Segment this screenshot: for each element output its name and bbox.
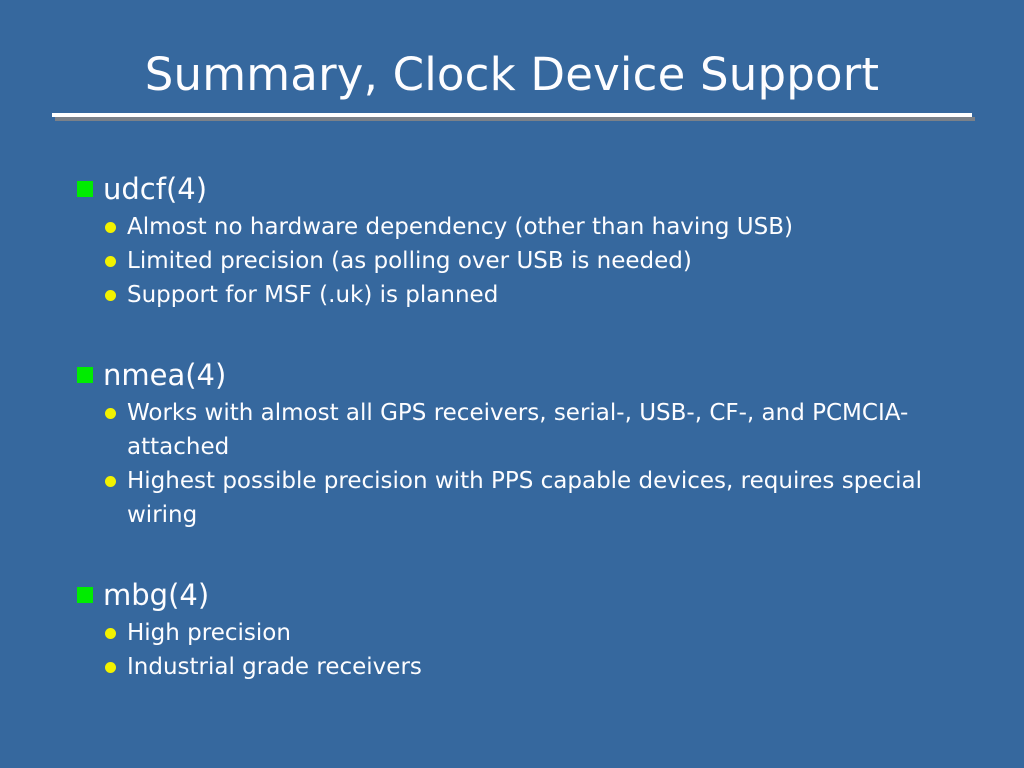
list-item: High precision — [72, 616, 972, 650]
list-item: Support for MSF (.uk) is planned — [72, 278, 972, 312]
list-item: Limited precision (as polling over USB i… — [72, 244, 972, 278]
title-divider-shadow — [55, 117, 975, 121]
square-bullet-icon — [77, 587, 93, 603]
list-item-label: High precision — [127, 616, 972, 650]
section-heading-label: mbg(4) — [103, 576, 972, 614]
list-item: Works with almost all GPS receivers, ser… — [72, 396, 972, 464]
list-item-label: Industrial grade receivers — [127, 650, 972, 684]
list-item-label: Support for MSF (.uk) is planned — [127, 278, 972, 312]
content-section: udcf(4) Almost no hardware dependency (o… — [72, 170, 972, 312]
dot-bullet-icon — [105, 662, 116, 673]
section-bullet-list: Almost no hardware dependency (other tha… — [72, 210, 972, 312]
slide-body: udcf(4) Almost no hardware dependency (o… — [72, 170, 972, 684]
dot-bullet-icon — [105, 476, 116, 487]
page-title: Summary, Clock Device Support — [0, 48, 1024, 102]
section-bullet-list: High precision Industrial grade receiver… — [72, 616, 972, 684]
list-item: Highest possible precision with PPS capa… — [72, 464, 972, 532]
list-item-label: Works with almost all GPS receivers, ser… — [127, 396, 972, 464]
list-item: Almost no hardware dependency (other tha… — [72, 210, 972, 244]
square-bullet-icon — [77, 367, 93, 383]
section-heading-row: udcf(4) — [72, 170, 972, 208]
dot-bullet-icon — [105, 290, 116, 301]
dot-bullet-icon — [105, 628, 116, 639]
slide-title-block: Summary, Clock Device Support — [0, 48, 1024, 102]
list-item-label: Highest possible precision with PPS capa… — [127, 464, 972, 532]
dot-bullet-icon — [105, 256, 116, 267]
section-heading-label: udcf(4) — [103, 170, 972, 208]
list-item-label: Almost no hardware dependency (other tha… — [127, 210, 972, 244]
section-heading-row: mbg(4) — [72, 576, 972, 614]
square-bullet-icon — [77, 181, 93, 197]
dot-bullet-icon — [105, 408, 116, 419]
content-section: nmea(4) Works with almost all GPS receiv… — [72, 356, 972, 532]
list-item: Industrial grade receivers — [72, 650, 972, 684]
section-heading-row: nmea(4) — [72, 356, 972, 394]
content-section: mbg(4) High precision Industrial grade r… — [72, 576, 972, 684]
presentation-slide: Summary, Clock Device Support udcf(4) Al… — [0, 0, 1024, 768]
dot-bullet-icon — [105, 222, 116, 233]
section-heading-label: nmea(4) — [103, 356, 972, 394]
section-bullet-list: Works with almost all GPS receivers, ser… — [72, 396, 972, 532]
list-item-label: Limited precision (as polling over USB i… — [127, 244, 972, 278]
